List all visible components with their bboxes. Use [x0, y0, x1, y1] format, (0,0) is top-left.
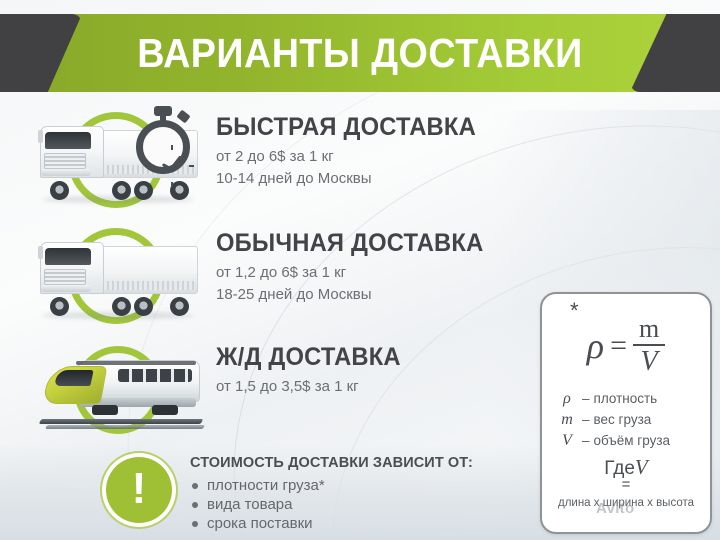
option-title: БЫСТРАЯ ДОСТАВКА: [216, 112, 520, 142]
stopwatch-button: [176, 110, 190, 124]
legend-meaning: вес груза: [594, 409, 652, 430]
list-item: срока поставки: [190, 514, 490, 533]
railway-track-secondary: [45, 425, 205, 429]
truck-icon: [34, 238, 202, 316]
truck-bumper: [41, 285, 91, 292]
option-title: Ж/Д ДОСТАВКА: [216, 342, 520, 372]
stopwatch-tick: [171, 145, 173, 150]
legend-row: m – вес груза: [556, 409, 706, 430]
legend-meaning: объём груза: [594, 430, 671, 451]
legend-row: V – объём груза: [556, 430, 706, 451]
truck-trailer: [96, 246, 198, 294]
note-text-block: СТОИМОСТЬ ДОСТАВКИ ЗАВИСИТ ОТ: плотности…: [190, 455, 490, 533]
stopwatch-tick: [189, 165, 194, 167]
legend-row: ρ – плотность: [556, 388, 706, 409]
density-formula-card: * ρ = m V ρ – плотность m – вес груза V: [540, 292, 712, 534]
truck-mirror: [38, 130, 43, 143]
formula-denominator: V: [635, 346, 664, 376]
stopwatch-tick: [171, 182, 173, 187]
legend-meaning: плотность: [594, 388, 658, 409]
density-formula: ρ = m V: [542, 312, 710, 380]
truck-wheel: [170, 297, 189, 316]
note-heading: СТОИМОСТЬ ДОСТАВКИ ЗАВИСИТ ОТ:: [190, 455, 490, 471]
truck-grille: [44, 153, 86, 169]
delivery-option-regular: ОБЫЧНАЯ ДОСТАВКА от 1,2 до 6$ за 1 кг 18…: [0, 220, 540, 332]
option-artwork: [24, 220, 204, 332]
watermark: Avito: [596, 500, 634, 517]
train-bogie: [92, 405, 118, 415]
option-text-block: ОБЫЧНАЯ ДОСТАВКА от 1,2 до 6$ за 1 кг 18…: [216, 228, 536, 305]
page-title: ВАРИАНТЫ ДОСТАВКИ: [29, 14, 691, 92]
stopwatch-icon: [134, 106, 196, 174]
option-artwork: [24, 334, 204, 446]
where-label: Где: [604, 458, 635, 479]
train-icon: [40, 356, 202, 426]
exclamation-icon: !: [106, 457, 172, 523]
formula-equals-sign: =: [610, 331, 627, 361]
option-title: ОБЫЧНАЯ ДОСТАВКА: [216, 228, 520, 258]
delivery-option-fast: БЫСТРАЯ ДОСТАВКА от 2 до 6$ за 1 кг 10-1…: [0, 104, 540, 216]
header-banner: ВАРИАНТЫ ДОСТАВКИ: [0, 14, 720, 92]
where-symbol: V: [635, 455, 648, 479]
where-equals: =: [542, 479, 710, 491]
train-bogie: [152, 405, 178, 415]
list-item: вида товара: [190, 495, 490, 514]
legend-symbol: ρ: [556, 388, 578, 409]
legend-dash: –: [582, 409, 590, 430]
legend-dash: –: [582, 430, 590, 451]
truck-wheel: [50, 181, 69, 200]
formula-legend: ρ – плотность m – вес груза V – объём гр…: [556, 388, 706, 451]
delivery-options-poster: ВАРИАНТЫ ДОСТАВКИ: [0, 0, 720, 540]
option-price: от 1,2 до 6$ за 1 кг: [216, 262, 536, 283]
stopwatch-tick: [150, 165, 155, 167]
formula-rho-symbol: ρ: [587, 327, 604, 365]
truck-wheel: [50, 297, 69, 316]
legend-symbol: V: [556, 430, 578, 451]
cost-note: ! СТОИМОСТЬ ДОСТАВКИ ЗАВИСИТ ОТ: плотнос…: [106, 455, 506, 540]
option-text-block: БЫСТРАЯ ДОСТАВКА от 2 до 6$ за 1 кг 10-1…: [216, 112, 536, 189]
option-price: от 2 до 6$ за 1 кг: [216, 146, 536, 167]
truck-windshield: [45, 248, 91, 265]
stopwatch-face: [136, 120, 190, 174]
truck-wheel: [112, 297, 131, 316]
train-windows: [118, 369, 192, 382]
formula-fraction: m V: [633, 316, 665, 376]
truck-windshield: [45, 132, 91, 149]
option-artwork: [24, 104, 204, 216]
formula-numerator: m: [633, 316, 665, 344]
option-text-block: Ж/Д ДОСТАВКА от 1,5 до 3,5$ за 1 кг: [216, 342, 536, 397]
truck-bumper: [41, 169, 91, 176]
truck-wheel: [134, 181, 153, 200]
option-duration: 10-14 дней до Москвы: [216, 168, 536, 189]
truck-mirror: [38, 246, 43, 259]
legend-symbol: m: [556, 409, 578, 430]
railway-track: [39, 419, 204, 424]
legend-dash: –: [582, 388, 590, 409]
option-price: от 1,5 до 3,5$ за 1 кг: [216, 376, 536, 397]
exclamation-mark: !: [132, 467, 147, 511]
truck-wheel: [134, 297, 153, 316]
truck-grille: [44, 269, 86, 285]
train-roof-stripe: [76, 361, 196, 365]
list-item: плотности груза*: [190, 476, 490, 495]
train-windshield: [54, 370, 93, 386]
option-duration: 18-25 дней до Москвы: [216, 284, 536, 305]
truck-wheel: [112, 181, 131, 200]
note-list: плотности груза* вида товара срока поста…: [190, 476, 490, 533]
delivery-option-rail: Ж/Д ДОСТАВКА от 1,5 до 3,5$ за 1 кг: [0, 334, 540, 446]
